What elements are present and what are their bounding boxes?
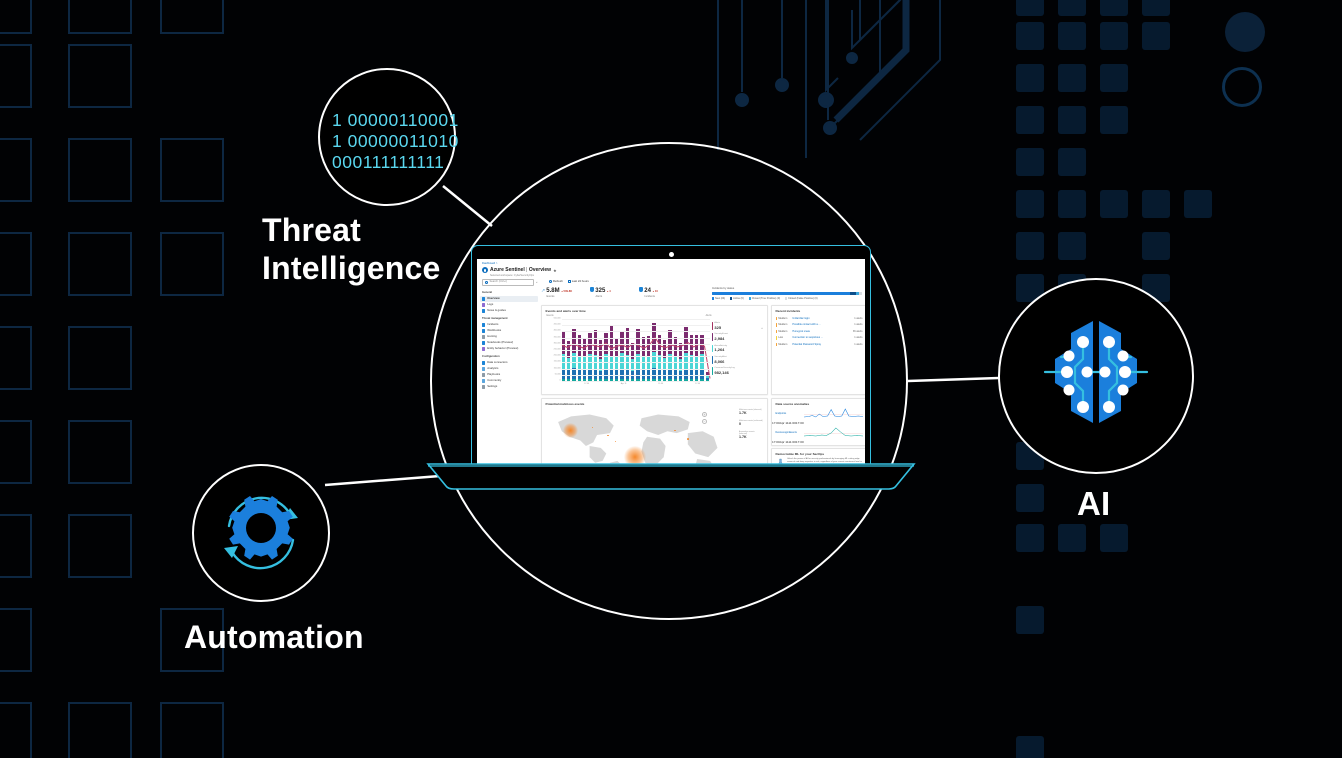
- potential-malicious-events-card: Potential malicious events: [541, 398, 768, 467]
- search-icon: [485, 281, 488, 284]
- recent-incidents-title: Recent incidents: [772, 306, 865, 313]
- sidebar-group-threat-management: Threat management: [482, 317, 538, 321]
- connectors-icon: [482, 361, 485, 364]
- zoom-out-icon[interactable]: −: [702, 419, 707, 424]
- recent-incidents-card: Recent incidents MediumUnfamiliar login1…: [771, 305, 865, 395]
- toolbar: Refresh Last 24 hours ...: [549, 280, 596, 284]
- map-zoom-controls[interactable]: + −: [702, 412, 707, 425]
- chart-y-tick: 50,000: [555, 374, 561, 377]
- world-map[interactable]: + −: [546, 409, 737, 467]
- chart-y-tick: 500,000: [554, 318, 561, 321]
- laptop-lid: Dashboard > Azure Sentinel | Overview ★ …: [471, 245, 871, 473]
- news-icon: [482, 309, 485, 312]
- ai-brain-circuit-icon: [1031, 311, 1161, 441]
- status-legend: New (24) Active (0) Closed (True Positiv…: [712, 297, 862, 300]
- chart-legend: Alerts325 SecurityEvent2,984 AzureActivi…: [712, 322, 762, 379]
- azure-sentinel-overview: Dashboard > Azure Sentinel | Overview ★ …: [477, 259, 865, 467]
- playbooks-icon: [482, 373, 485, 376]
- search-input[interactable]: Search (Ctrl+/): [482, 279, 534, 286]
- node-ai[interactable]: [998, 278, 1194, 474]
- chart-y-tick: 100,000: [554, 367, 561, 370]
- events-icon: ↗: [541, 289, 545, 294]
- kpi-events: ↗5.8M509.8K Events: [541, 287, 590, 299]
- sparkline: [804, 408, 863, 419]
- entity-icon: [482, 347, 485, 350]
- threat-marker: [563, 423, 578, 438]
- sidebar-group-configuration: Configuration: [482, 355, 538, 359]
- gear-with-circular-arrows-icon: [206, 478, 316, 588]
- overview-icon: [482, 297, 485, 300]
- kpi-incidents: 2410 Incidents: [639, 287, 688, 299]
- sidebar-item-news-guides[interactable]: News & guides: [480, 308, 538, 314]
- label-ai: AI: [1077, 485, 1110, 523]
- events-alerts-chart-card: Events and alerts over time ^ Events Ale…: [541, 305, 768, 395]
- chart-y-tick: 200,000: [554, 355, 561, 358]
- node-automation[interactable]: [192, 464, 330, 602]
- label-threat-intelligence: Threat Intelligence: [262, 211, 440, 287]
- main-content: ↗5.8M509.8K Events 3254 Alerts 2410 Inci…: [541, 287, 862, 465]
- analytics-icon: [482, 367, 485, 370]
- alerts-icon: [590, 287, 594, 292]
- kpi-alerts: 3254 Alerts: [590, 287, 639, 299]
- diagram-canvas: 1 00000110001 1 00000011010 000111111111…: [0, 0, 1342, 758]
- chart-y-tick: 0: [559, 380, 560, 383]
- status-bar: [712, 292, 862, 295]
- kpi-row: ↗5.8M509.8K Events 3254 Alerts 2410 Inci…: [541, 287, 862, 299]
- node-threat-intelligence[interactable]: 1 00000110001 1 00000011010 000111111111: [318, 68, 456, 206]
- data-source-anomalies-card: Data source anomalies Endpoints: [771, 398, 865, 446]
- sidebar-group-general: General: [482, 291, 538, 295]
- zoom-in-icon[interactable]: +: [702, 412, 707, 417]
- chart-ylabel-right: Alerts: [706, 315, 712, 318]
- more-button[interactable]: ...: [594, 280, 596, 284]
- refresh-button[interactable]: Refresh: [549, 280, 563, 284]
- table-row[interactable]: MediumPotential Password Spray1 alerts: [772, 341, 865, 348]
- decorative-outline-circle: [1222, 67, 1262, 107]
- chart-y-tick: 250,000: [554, 349, 561, 352]
- chart-y-tick: 300,000: [554, 343, 561, 346]
- chart-title: Events and alerts over time: [542, 306, 767, 313]
- sidebar-item-settings[interactable]: Settings: [480, 384, 538, 390]
- laptop-base: [426, 462, 916, 490]
- chart-y-tick: 450,000: [554, 324, 561, 327]
- breadcrumb[interactable]: Dashboard >: [482, 262, 497, 266]
- binary-code-icon: 1 00000110001 1 00000011010 000111111111: [332, 110, 472, 173]
- search-placeholder: Search (Ctrl+/): [490, 280, 508, 284]
- chart-x-tick: 17:00: [584, 383, 589, 386]
- community-icon: [482, 379, 485, 382]
- incidents-icon: [482, 323, 485, 326]
- logs-icon: [482, 303, 485, 306]
- time-range-button[interactable]: Last 24 hours: [568, 280, 589, 284]
- notebooks-icon: [482, 341, 485, 344]
- laptop-device: Dashboard > Azure Sentinel | Overview ★ …: [426, 245, 916, 490]
- incidents-by-status: Incidents by status New (24) Active (: [712, 287, 862, 301]
- chevron-left-icon[interactable]: «: [536, 281, 537, 285]
- workbooks-icon: [482, 329, 485, 332]
- webcam-icon: [669, 252, 674, 257]
- pin-icon[interactable]: ★: [553, 268, 557, 273]
- ml-title: Democratize ML for your SecOps: [772, 449, 865, 456]
- laptop-screen: Dashboard > Azure Sentinel | Overview ★ …: [477, 259, 865, 467]
- label-automation: Automation: [184, 619, 364, 656]
- chart-y-tick: 350,000: [554, 336, 561, 339]
- anomaly-row[interactable]: Endpoints: [772, 406, 865, 421]
- incidents-kpi-icon: [639, 287, 643, 292]
- chart-y-tick: 150,000: [554, 361, 561, 364]
- anomalies-title: Data source anomalies: [772, 399, 865, 406]
- azure-sentinel-logo-icon: [482, 267, 488, 273]
- anomaly-row[interactable]: DeviceLogonEvents: [772, 425, 865, 440]
- sidebar-item-entity-behavior[interactable]: Entity behavior (Preview): [480, 346, 538, 352]
- chart-plot: 500,000450,000400,000350,000300,000250,0…: [562, 319, 710, 381]
- hunting-icon: [482, 335, 485, 338]
- page-subtitle: Selected workspace: CyberSecurityOps: [490, 274, 534, 277]
- sparkline: [804, 427, 863, 438]
- chart-x-tick: 11:00: [658, 383, 663, 386]
- map-stats: Malicious events (inbound)1.7K Malicious…: [737, 409, 763, 467]
- map-title: Potential malicious events: [542, 399, 767, 406]
- anomaly-ticks: 17:00Apr 1111:0017:00: [772, 440, 865, 444]
- clock-icon: [568, 280, 571, 283]
- settings-icon: [482, 385, 485, 388]
- refresh-icon: [549, 280, 552, 283]
- chart-x-tick: 17:00: [695, 383, 700, 386]
- chart-y-tick: 400,000: [554, 330, 561, 333]
- sidebar: General Overview Logs News & guides Thre…: [480, 288, 538, 390]
- sidebar-item-community[interactable]: Community: [480, 378, 538, 384]
- chart-x-tick: Apr 11: [621, 383, 627, 386]
- decorative-filled-circle: [1225, 12, 1265, 52]
- chart-ylabel-left: Events: [547, 315, 554, 318]
